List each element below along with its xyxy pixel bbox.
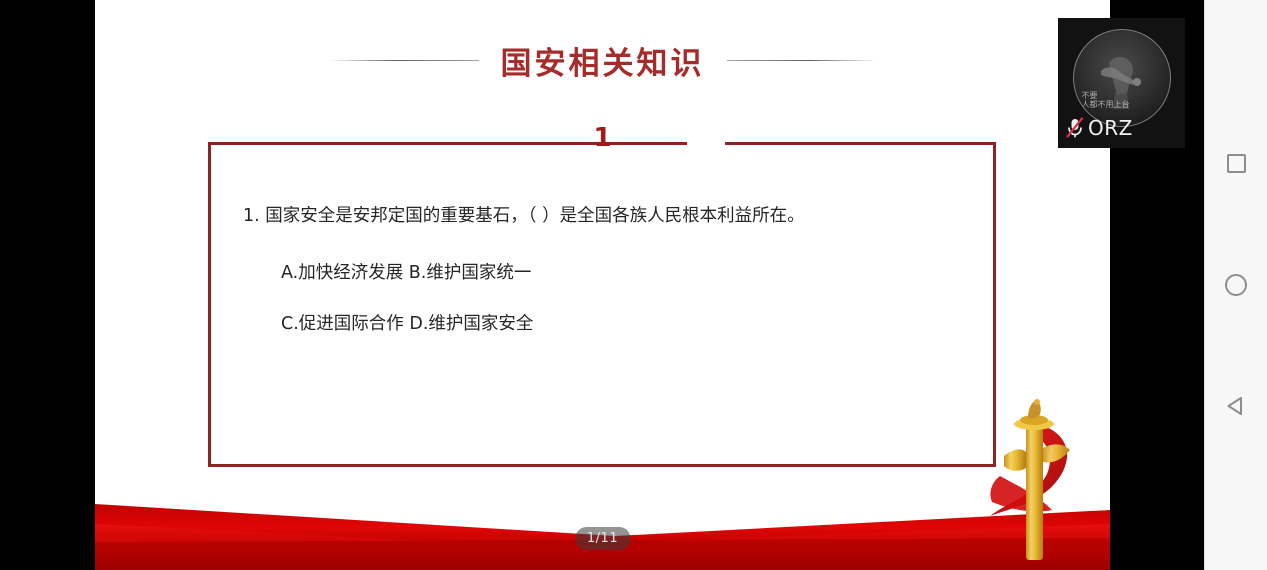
recents-button[interactable] <box>1213 140 1259 186</box>
huabiao-column-icon <box>982 390 1092 570</box>
microphone-muted-icon[interactable] <box>1064 116 1086 140</box>
circle-home-icon <box>1225 274 1247 296</box>
avatar: 不要 人都不用上台 <box>1073 29 1171 127</box>
question-option-cd: C.促进国际合作 D.维护国家安全 <box>281 312 966 337</box>
slide-title-row: 国安相关知识 <box>95 38 1110 83</box>
page-indicator: 1/11 <box>575 527 630 550</box>
self-view-username: ORZ <box>1088 116 1133 140</box>
avatar-caption: 不要 人都不用上台 <box>1082 91 1130 110</box>
home-button[interactable] <box>1213 262 1259 308</box>
square-recents-icon <box>1227 154 1246 173</box>
question-content: 1. 国家安全是安邦定国的重要基石，（ ）是全国各族人民根本利益所在。 A.加快… <box>208 142 996 467</box>
question-stem: 1. 国家安全是安邦定国的重要基石，（ ）是全国各族人民根本利益所在。 <box>243 204 966 229</box>
android-navigation-bar <box>1204 0 1267 570</box>
question-options: A.加快经济发展 B.维护国家统一 C.促进国际合作 D.维护国家安全 <box>243 261 966 337</box>
red-silk-ribbon-icon <box>95 480 1110 570</box>
page-title: 国安相关知识 <box>501 38 705 83</box>
title-rule-right-icon <box>727 60 877 61</box>
presentation-slide[interactable]: 国安相关知识 1 1. 国家安全是安邦定国的重要基石，（ ）是全国各族人民根本利… <box>95 0 1110 570</box>
back-button[interactable] <box>1213 383 1259 429</box>
self-view-footer: ORZ <box>1064 116 1133 140</box>
title-rule-left-icon <box>329 60 479 61</box>
self-view-video-tile[interactable]: 不要 人都不用上台 ORZ <box>1058 18 1185 148</box>
triangle-back-icon <box>1225 395 1247 417</box>
device-screen: 国安相关知识 1 1. 国家安全是安邦定国的重要基石，（ ）是全国各族人民根本利… <box>0 0 1267 570</box>
question-option-ab: A.加快经济发展 B.维护国家统一 <box>281 261 966 286</box>
